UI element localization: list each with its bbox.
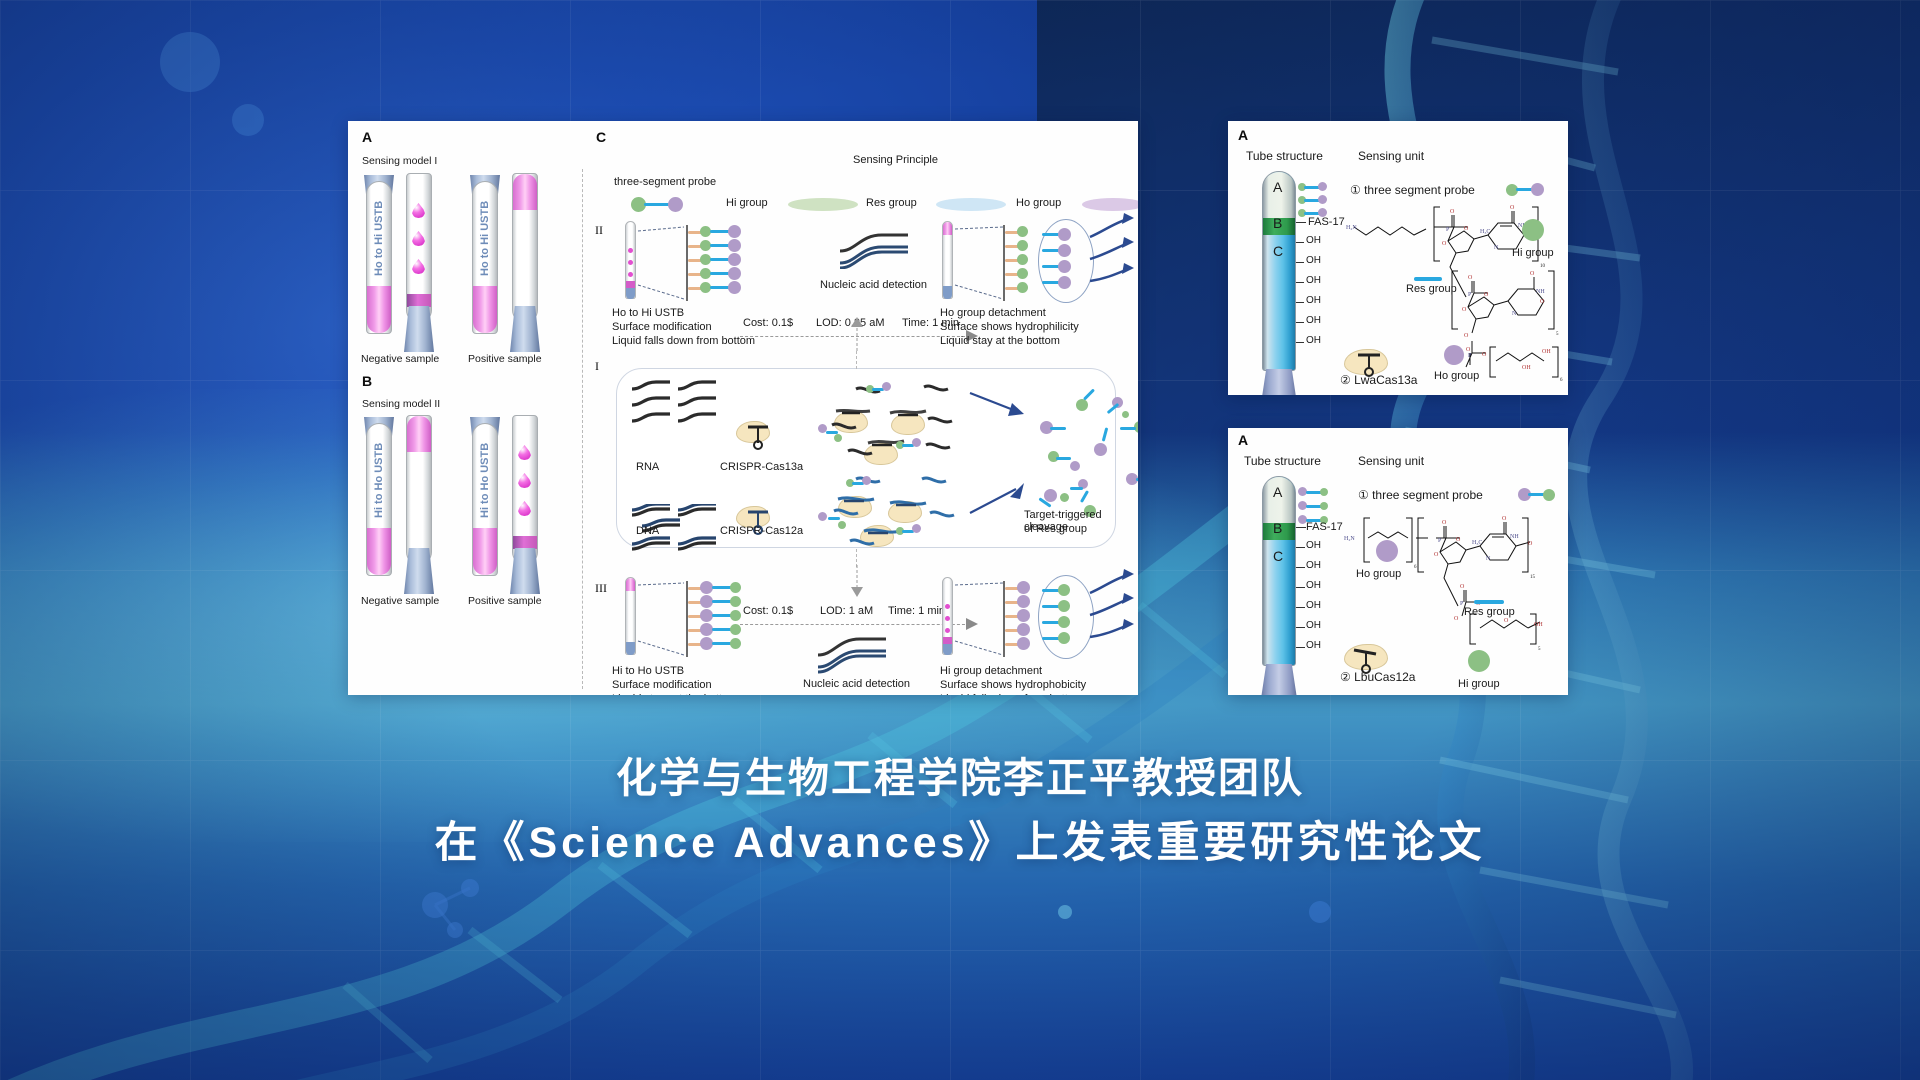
br-res-group-label: Res group: [1464, 606, 1515, 618]
cleavage-arrow-top: [968, 389, 1028, 419]
svg-text:O: O: [1504, 618, 1509, 624]
row-ii-surface-line-right: [1003, 225, 1005, 301]
panel-b-negative-label: Negative sample: [361, 595, 439, 607]
br-oh-label-6: OH: [1306, 640, 1321, 651]
row-ii-up-arrow: [850, 317, 864, 351]
row-iii-down-arrow: [850, 565, 864, 599]
row-iii-release-arrows: [1088, 565, 1136, 659]
tr-oh-tick-3: [1296, 282, 1304, 283]
br-item2-label: ② LbuCas12a: [1340, 670, 1415, 684]
tr-tube-structure-label: Tube structure: [1246, 149, 1323, 163]
br-oh-tick-6: [1296, 647, 1305, 648]
br-oh-label-5: OH: [1306, 620, 1321, 631]
tube-label-a-pos: Ho to Hi USTB: [479, 201, 491, 276]
svg-text:O: O: [1434, 552, 1439, 558]
tr-hi-group-label: Hi group: [1512, 247, 1554, 259]
tr-res-group-swatch: [1414, 277, 1442, 281]
panel-c-letter: C: [596, 129, 606, 145]
row-iii-right-line3: Liquid falls down from bottom: [940, 693, 1083, 695]
tr-fas-label: FAS-17: [1308, 216, 1345, 228]
svg-text:5: 5: [1538, 647, 1541, 652]
svg-text:6: 6: [1560, 378, 1563, 383]
svg-text:15: 15: [1530, 575, 1536, 580]
br-ho-group-swatch: [1376, 540, 1398, 562]
figure-panel-top-right: A Tube structure Sensing unit A B C FAS-…: [1228, 121, 1568, 395]
br-ho-group-label: Ho group: [1356, 568, 1401, 580]
row-ii-surface-line: [686, 225, 688, 301]
row-iii-metric-time: Time: 1 min: [888, 605, 945, 617]
tr-oh-label-5: OH: [1306, 315, 1321, 326]
tr-ho-group-label: Ho group: [1434, 370, 1479, 382]
panel-b-caption: Sensing model II: [362, 398, 440, 410]
tr-oh-label-1: OH: [1306, 235, 1321, 246]
br-tube-foot: [1259, 664, 1299, 695]
row-iii-center-label: Nucleic acid detection: [803, 678, 910, 690]
three-segment-probe-label: three-segment probe: [614, 176, 716, 188]
row-iii-metric-cost: Cost: 0.1$: [743, 605, 793, 617]
headline-line-2: 在《Science Advances》上发表重要研究性论文: [0, 810, 1920, 877]
tr-oh-label-3: OH: [1306, 275, 1321, 286]
svg-text:P: P: [1438, 538, 1442, 544]
row-i-result-line2: of Res group: [1024, 523, 1087, 535]
svg-text:O: O: [1510, 205, 1515, 211]
rna-strands: [630, 379, 720, 431]
tr-res-group-label: Res group: [1406, 283, 1457, 295]
panel-divider: [582, 169, 583, 689]
svg-text:NH: NH: [1510, 534, 1519, 540]
tr-oh-tick-2: [1296, 262, 1304, 263]
br-tube-structure-label: Tube structure: [1244, 454, 1321, 468]
br-oh-tick-5: [1296, 627, 1305, 628]
cas12a-label: CRISPR-Cas12a: [720, 525, 803, 537]
tr-oh-tick-6: [1296, 342, 1304, 343]
br-segment-a: A: [1273, 484, 1282, 500]
svg-text:P: P: [1446, 227, 1450, 233]
svg-text:H₃C: H₃C: [1472, 540, 1482, 546]
br-oh-tick-3: [1296, 587, 1305, 588]
tr-oh-tick-1: [1296, 242, 1304, 243]
tr-segment-c: C: [1273, 243, 1283, 259]
tube-label-b-neg: Hi to Ho USTB: [373, 443, 385, 518]
cas13a-guide: [746, 423, 770, 451]
row-ii-left-line1: Ho to Hi USTB: [612, 307, 684, 319]
br-oh-tick-2: [1296, 567, 1305, 568]
tr-oh-label-2: OH: [1306, 255, 1321, 266]
svg-text:N: N: [1486, 556, 1491, 562]
row-iii-left-line1: Hi to Ho USTB: [612, 665, 684, 677]
br-segment-c: C: [1273, 548, 1283, 564]
svg-text:O: O: [1450, 209, 1455, 215]
row-ii-zoom-lines: [634, 225, 694, 301]
row-ii-left-line3: Liquid falls down from bottom: [612, 335, 755, 347]
row-ii-release-arrows: [1088, 209, 1136, 303]
dna-label: DNA: [636, 525, 659, 537]
svg-text:NH: NH: [1536, 289, 1545, 295]
tube-label-b-pos: Hi to Ho USTB: [479, 443, 491, 518]
row-ii-metric-cost: Cost: 0.1$: [743, 317, 793, 329]
headline-line-1: 化学与生物工程学院李正平教授团队: [0, 748, 1920, 810]
tube-label-a-neg: Ho to Hi USTB: [373, 201, 385, 276]
row-ii-right-line2: Surface shows hydrophilicity: [940, 321, 1079, 333]
panel-b-positive-label: Positive sample: [468, 595, 542, 607]
row-iii-left-line3: Liquid stays at the bottom: [612, 693, 737, 695]
panel-a-letter: A: [362, 129, 372, 145]
row-iii-zoom-lines-right: [951, 581, 1011, 657]
br-sensing-unit-label: Sensing unit: [1358, 454, 1424, 468]
svg-text:O: O: [1456, 537, 1461, 543]
row-ii-zoom-lines-right: [951, 225, 1011, 301]
panel-a-positive-label: Positive sample: [468, 353, 542, 365]
br-hi-group-swatch: [1468, 650, 1490, 672]
row-ii-right-line3: Liquid stay at the bottom: [940, 335, 1060, 347]
svg-text:OH: OH: [1542, 349, 1551, 355]
row-iii-arrow: [740, 624, 970, 625]
legend-hi-label: Hi group: [726, 197, 768, 209]
row-ii-left-line2: Surface modification: [612, 321, 712, 333]
tr-ho-group-swatch: [1444, 345, 1464, 365]
row-iii-surface-line-right: [1003, 581, 1005, 657]
tr-segment-b: B: [1273, 215, 1282, 231]
svg-text:O: O: [1462, 307, 1467, 313]
svg-text:H₃C: H₃C: [1480, 229, 1490, 235]
br-hi-group-label: Hi group: [1458, 678, 1500, 690]
row-iii-left-line2: Surface modification: [612, 679, 712, 691]
svg-text:6: 6: [1414, 565, 1417, 570]
svg-text:O: O: [1460, 584, 1465, 590]
br-panel-letter: A: [1238, 432, 1248, 448]
legend-hi-swatch: [788, 198, 858, 211]
sensing-principle-heading: Sensing Principle: [853, 154, 938, 166]
row-iii-numeral: III: [595, 581, 607, 596]
tr-item1-label: ① three segment probe: [1350, 183, 1475, 197]
br-tube: [1262, 476, 1296, 666]
svg-text:O: O: [1530, 271, 1535, 277]
legend-ho-label: Ho group: [1016, 197, 1061, 209]
svg-text:O: O: [1502, 516, 1507, 522]
panel-a-caption: Sensing model I: [362, 155, 437, 167]
row-ii-right-line1: Ho group detachment: [940, 307, 1046, 319]
br-segment-b: B: [1273, 520, 1282, 536]
br-oh-tick-4: [1296, 607, 1305, 608]
legend-res-label: Res group: [866, 197, 917, 209]
figure-panel-bottom-right: A Tube structure Sensing unit A B C FAS-…: [1228, 428, 1568, 695]
br-item1-label: ① three segment probe: [1358, 488, 1483, 502]
tr-oh-tick-5: [1296, 322, 1304, 323]
svg-text:H₂N: H₂N: [1346, 225, 1357, 231]
row-iii-zoom-lines: [634, 581, 694, 657]
br-oh-label-1: OH: [1306, 540, 1321, 551]
br-oh-label-3: OH: [1306, 580, 1321, 591]
svg-text:5: 5: [1556, 332, 1559, 337]
br-res-group-swatch: [1474, 600, 1504, 604]
row-iii-right-line1: Hi group detachment: [940, 665, 1042, 677]
svg-text:O: O: [1540, 299, 1545, 305]
row-i-connector-top: [856, 351, 857, 369]
svg-text:O: O: [1464, 333, 1469, 339]
tr-fas-tick: [1296, 222, 1306, 223]
row-iii-metric-lod: LOD: 1 aM: [820, 605, 873, 617]
tr-sensing-unit-label: Sensing unit: [1358, 149, 1424, 163]
headline: 化学与生物工程学院李正平教授团队 在《Science Advances》上发表重…: [0, 748, 1920, 876]
rna-label: RNA: [636, 461, 659, 473]
tr-panel-letter: A: [1238, 127, 1248, 143]
svg-text:O: O: [1442, 520, 1447, 526]
svg-text:P: P: [1468, 292, 1472, 298]
svg-text:O: O: [1468, 275, 1473, 281]
tr-tube: [1262, 171, 1296, 371]
row-iii-right-line2: Surface shows hydrophobicity: [940, 679, 1086, 691]
svg-text:O: O: [1454, 616, 1459, 622]
svg-text:OH: OH: [1534, 622, 1543, 628]
figure-panel-main: A Sensing model I Ho to Hi USTB Negative…: [348, 121, 1138, 695]
row-ii-center-label: Nucleic acid detection: [820, 279, 927, 291]
row-ii-numeral: II: [595, 223, 603, 238]
tr-hi-group-swatch: [1522, 219, 1544, 241]
svg-text:O: O: [1442, 241, 1447, 247]
tr-oh-tick-4: [1296, 302, 1304, 303]
panel-b-letter: B: [362, 373, 372, 389]
tr-item2-label: ② LwaCas13a: [1340, 373, 1417, 387]
svg-text:O: O: [1528, 541, 1533, 547]
cas13a-label: CRISPR-Cas13a: [720, 461, 803, 473]
tr-segment-a: A: [1273, 179, 1282, 195]
br-fas-tick: [1296, 527, 1306, 528]
tr-oh-label-4: OH: [1306, 295, 1321, 306]
svg-text:N: N: [1512, 311, 1517, 317]
tr-oh-label-6: OH: [1306, 335, 1321, 346]
panel-a-negative-label: Negative sample: [361, 353, 439, 365]
row-iii-nucleic-strands: [816, 637, 896, 677]
legend-res-swatch: [936, 198, 1006, 211]
br-fas-label: FAS-17: [1306, 521, 1343, 533]
svg-text:O: O: [1484, 292, 1489, 298]
br-oh-label-2: OH: [1306, 560, 1321, 571]
row-ii-nucleic-strands: [838, 229, 918, 269]
svg-text:10: 10: [1540, 264, 1546, 269]
svg-text:H₂N: H₂N: [1344, 536, 1355, 542]
svg-text:OH: OH: [1522, 365, 1531, 371]
br-oh-tick-1: [1296, 547, 1305, 548]
tr-tube-foot: [1259, 369, 1299, 395]
cleavage-arrow-bottom: [968, 481, 1028, 517]
row-i-numeral: I: [595, 359, 599, 374]
svg-text:O: O: [1482, 352, 1487, 358]
br-oh-label-4: OH: [1306, 600, 1321, 611]
row-iii-surface-line: [686, 581, 688, 657]
svg-text:N: N: [1494, 245, 1499, 251]
svg-text:O: O: [1464, 226, 1469, 232]
